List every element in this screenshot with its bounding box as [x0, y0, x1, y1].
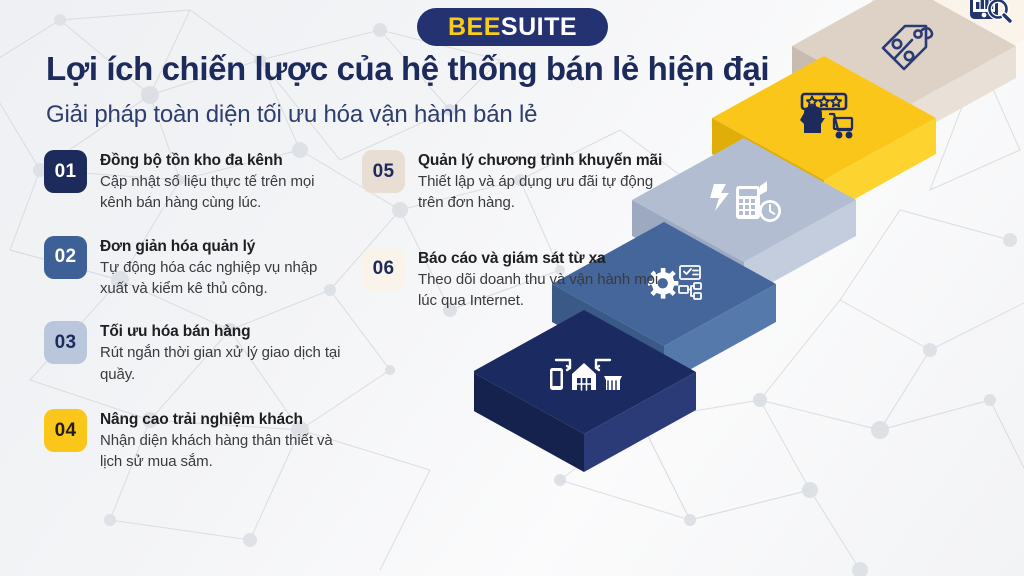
- benefit-description-05: Thiết lập và áp dụng ưu đãi tự động trên…: [418, 171, 672, 214]
- benefit-item-02[interactable]: 02 Đơn giản hóa quản lý Tự động hóa các …: [44, 236, 344, 300]
- page-subtitle: Giải pháp toàn diện tối ưu hóa vận hành …: [46, 101, 806, 129]
- page-title: Lợi ích chiến lược của hệ thống bán lẻ h…: [46, 50, 946, 88]
- benefit-badge-02: 02: [44, 236, 87, 279]
- benefit-badge-06: 06: [362, 248, 405, 291]
- benefits-column-left: 01 Đồng bộ tồn kho đa kênh Cập nhật số l…: [44, 150, 344, 473]
- benefit-item-01[interactable]: 01 Đồng bộ tồn kho đa kênh Cập nhật số l…: [44, 150, 344, 214]
- benefits-column-right: 05 Quản lý chương trình khuyến mãi Thiết…: [362, 150, 672, 311]
- benefit-badge-05: 05: [362, 150, 405, 193]
- benefit-description-04: Nhận diện khách hàng thân thiết và lịch …: [100, 430, 344, 473]
- benefit-badge-04: 04: [44, 409, 87, 452]
- benefit-description-01: Cập nhật số liệu thực tế trên mọi kênh b…: [100, 171, 344, 214]
- logo-text-suite: SUITE: [501, 15, 577, 40]
- step-2-process-automation-target[interactable]: [554, 306, 778, 386]
- benefit-description-02: Tự động hóa các nghiệp vụ nhập xuất và k…: [100, 257, 344, 300]
- benefit-badge-03: 03: [44, 321, 87, 364]
- benefit-item-04[interactable]: 04 Nâng cao trải nghiệm khách Nhận diện …: [44, 409, 344, 473]
- benefit-badge-01: 01: [44, 150, 87, 193]
- benefit-item-03[interactable]: 03 Tối ưu hóa bán hàng Rút ngắn thời gia…: [44, 321, 344, 385]
- benefit-description-03: Rút ngắn thời gian xử lý giao dịch tại q…: [100, 342, 344, 385]
- step-1-omnichannel-inventory-target[interactable]: [474, 394, 698, 474]
- benefit-heading-03: Tối ưu hóa bán hàng: [100, 322, 344, 342]
- infographic-canvas: BEE SUITE Lợi ích chiến lược của hệ thốn…: [0, 0, 1024, 576]
- benefit-heading-06: Báo cáo và giám sát từ xa: [418, 249, 672, 269]
- benefit-heading-02: Đơn giản hóa quản lý: [100, 237, 344, 257]
- benefit-item-06[interactable]: 06 Báo cáo và giám sát từ xa Theo dõi do…: [362, 248, 672, 312]
- benefit-heading-01: Đồng bộ tồn kho đa kênh: [100, 151, 344, 171]
- logo-text-bee: BEE: [448, 15, 501, 40]
- beesuite-logo[interactable]: BEE SUITE: [417, 8, 608, 46]
- benefit-description-06: Theo dõi doanh thu và vận hành mọi lúc q…: [418, 269, 672, 312]
- benefit-item-05[interactable]: 05 Quản lý chương trình khuyến mãi Thiết…: [362, 150, 672, 214]
- step-4-customer-experience-target[interactable]: [714, 140, 938, 220]
- benefit-heading-04: Nâng cao trải nghiệm khách: [100, 410, 344, 430]
- benefit-heading-05: Quản lý chương trình khuyến mãi: [418, 151, 672, 171]
